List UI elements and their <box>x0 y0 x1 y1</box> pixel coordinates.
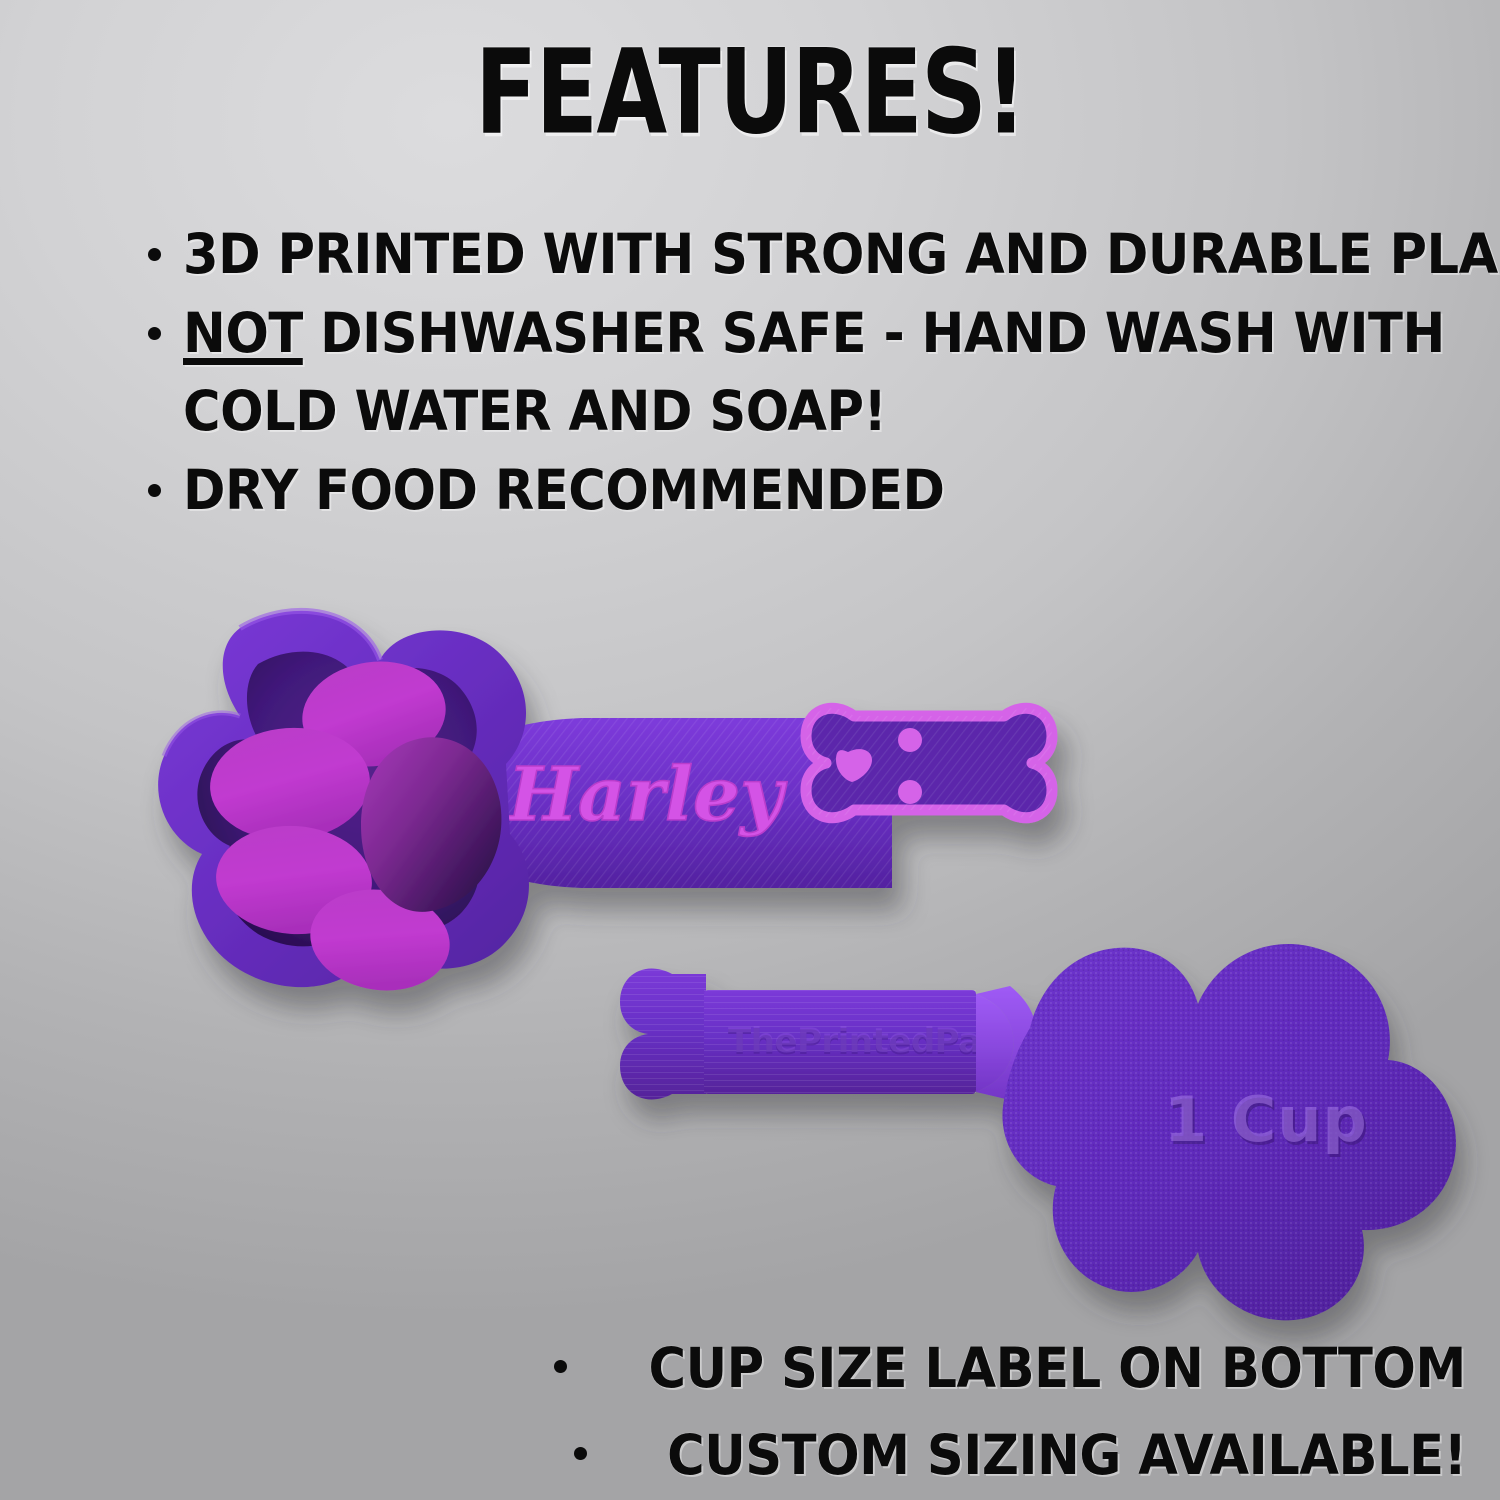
infographic-canvas: FEATURES! 3D PRINTED WITH STRONG AND DUR… <box>0 0 1500 1500</box>
list-item: NOT DISHWASHER SAFE - HAND WASH WITH <box>148 297 1478 370</box>
bullet-dot-icon <box>148 327 161 340</box>
svg-text:ThePrintedPaw: ThePrintedPaw <box>728 1021 1012 1061</box>
list-item: CUP SIZE LABEL ON BOTTOM <box>0 1332 1466 1405</box>
feature-list-bottom: CUP SIZE LABEL ON BOTTOM CUSTOM SIZING A… <box>0 1332 1500 1500</box>
bullet-dot-icon <box>148 484 161 497</box>
product-image-flipped-scoop: ThePrintedPaw ThePrintedPaw 1 Cup 1 Cup <box>600 822 1480 1322</box>
page-title: FEATURES! <box>90 34 1410 150</box>
feature-text: DRY FOOD RECOMMENDED <box>183 454 945 527</box>
bone-dot-upper <box>898 728 922 752</box>
feature-text: COLD WATER AND SOAP! <box>183 375 886 448</box>
list-item: 3D PRINTED WITH STRONG AND DURABLE PLA <box>148 218 1478 291</box>
feature-text: NOT DISHWASHER SAFE - HAND WASH WITH <box>183 297 1445 370</box>
size-label-text: 1 Cup <box>1164 1083 1368 1156</box>
bullet-dot-icon <box>554 1360 567 1373</box>
list-item: CUSTOM SIZING AVAILABLE! <box>0 1419 1466 1492</box>
feature-text: CUSTOM SIZING AVAILABLE! <box>667 1419 1466 1492</box>
bullet-dot-icon <box>148 248 161 261</box>
list-item: DRY FOOD RECOMMENDED <box>148 454 1478 527</box>
feature-text: CUP SIZE LABEL ON BOTTOM <box>649 1332 1466 1405</box>
list-item-continuation: COLD WATER AND SOAP! <box>148 375 1478 448</box>
feature-list-top: 3D PRINTED WITH STRONG AND DURABLE PLA N… <box>148 218 1478 532</box>
bullet-dot-icon <box>574 1447 587 1460</box>
feature-emphasis: NOT <box>183 301 303 365</box>
bone-dot-lower <box>898 780 922 804</box>
feature-text: 3D PRINTED WITH STRONG AND DURABLE PLA <box>183 218 1498 291</box>
feature-text-rest: DISHWASHER SAFE - HAND WASH WITH <box>303 301 1445 365</box>
